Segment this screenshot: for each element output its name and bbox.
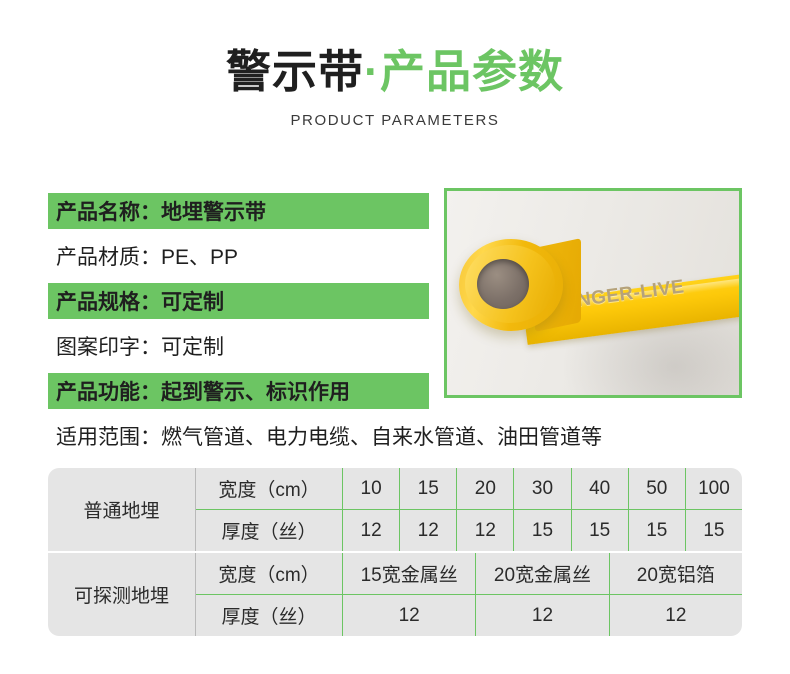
- table-row: 厚度（丝）12121215151515: [196, 509, 742, 551]
- table-cells: 101520304050100: [343, 468, 742, 509]
- table-section-body: 普通地埋宽度（cm）101520304050100厚度（丝）1212121515…: [48, 468, 742, 551]
- table-cell: 30: [514, 468, 571, 509]
- spec-row: 产品功能：起到警示、标识作用: [48, 373, 429, 409]
- table-section: 普通地埋宽度（cm）101520304050100厚度（丝）1212121515…: [48, 468, 742, 551]
- table-cell: 40: [572, 468, 629, 509]
- table-row-label: 宽度（cm）: [196, 468, 343, 509]
- table-section: 可探测地埋宽度（cm）15宽金属丝20宽金属丝20宽铝箔厚度（丝）121212: [48, 551, 742, 636]
- table-cell: 12: [343, 595, 476, 636]
- table-row-label: 厚度（丝）: [196, 510, 343, 551]
- table-cell: 12: [610, 595, 742, 636]
- table-row: 厚度（丝）121212: [196, 594, 742, 636]
- table-cell: 15: [629, 510, 686, 551]
- table-cell: 12: [476, 595, 609, 636]
- page-header: 警示带·产品参数 PRODUCT PARAMETERS: [0, 0, 790, 129]
- table-cell: 10: [343, 468, 400, 509]
- table-rows: 宽度（cm）15宽金属丝20宽金属丝20宽铝箔厚度（丝）121212: [196, 553, 742, 636]
- table-cell: 15宽金属丝: [343, 553, 476, 594]
- table-cell: 15: [686, 510, 742, 551]
- table-cell: 15: [514, 510, 571, 551]
- spec-row: 图案印字：可定制: [48, 328, 429, 364]
- table-cell: 20宽铝箔: [610, 553, 742, 594]
- page-subtitle: PRODUCT PARAMETERS: [0, 112, 790, 129]
- table-cell: 100: [686, 468, 742, 509]
- table-cells: 121212: [343, 595, 742, 636]
- table-cell: 50: [629, 468, 686, 509]
- table-rows: 宽度（cm）101520304050100厚度（丝）12121215151515: [196, 468, 742, 551]
- spec-row: 产品材质：PE、PP: [48, 238, 429, 274]
- table-cell: 12: [400, 510, 457, 551]
- table-row-label: 厚度（丝）: [196, 595, 343, 636]
- tape-roll-icon: [459, 239, 563, 331]
- spec-row: 适用范围：燃气管道、电力电缆、自来水管道、油田管道等: [48, 418, 742, 454]
- spec-row: 产品规格：可定制: [48, 283, 429, 319]
- table-cell: 20: [457, 468, 514, 509]
- table-cell: 12: [343, 510, 400, 551]
- table-category-label: 普通地埋: [48, 468, 196, 551]
- page-title-separator: ·: [364, 46, 380, 97]
- product-photo: DANGER-LIVE: [444, 188, 742, 398]
- table-cell: 20宽金属丝: [476, 553, 609, 594]
- table-cell: 12: [457, 510, 514, 551]
- parameter-table: 普通地埋宽度（cm）101520304050100厚度（丝）1212121515…: [48, 468, 742, 636]
- table-row: 宽度（cm）101520304050100: [196, 468, 742, 509]
- tape-roll-core: [477, 259, 529, 309]
- table-row: 宽度（cm）15宽金属丝20宽金属丝20宽铝箔: [196, 553, 742, 594]
- table-row-label: 宽度（cm）: [196, 553, 343, 594]
- page-title: 警示带·产品参数: [0, 44, 790, 100]
- table-cells: 12121215151515: [343, 510, 742, 551]
- table-category-label: 可探测地埋: [48, 553, 196, 636]
- page-title-primary: 警示带: [226, 46, 364, 97]
- table-cell: 15: [400, 468, 457, 509]
- table-section-body: 可探测地埋宽度（cm）15宽金属丝20宽金属丝20宽铝箔厚度（丝）121212: [48, 553, 742, 636]
- table-cells: 15宽金属丝20宽金属丝20宽铝箔: [343, 553, 742, 594]
- spec-row: 产品名称：地埋警示带: [48, 193, 429, 229]
- page-title-accent: 产品参数: [380, 46, 564, 97]
- table-cell: 15: [572, 510, 629, 551]
